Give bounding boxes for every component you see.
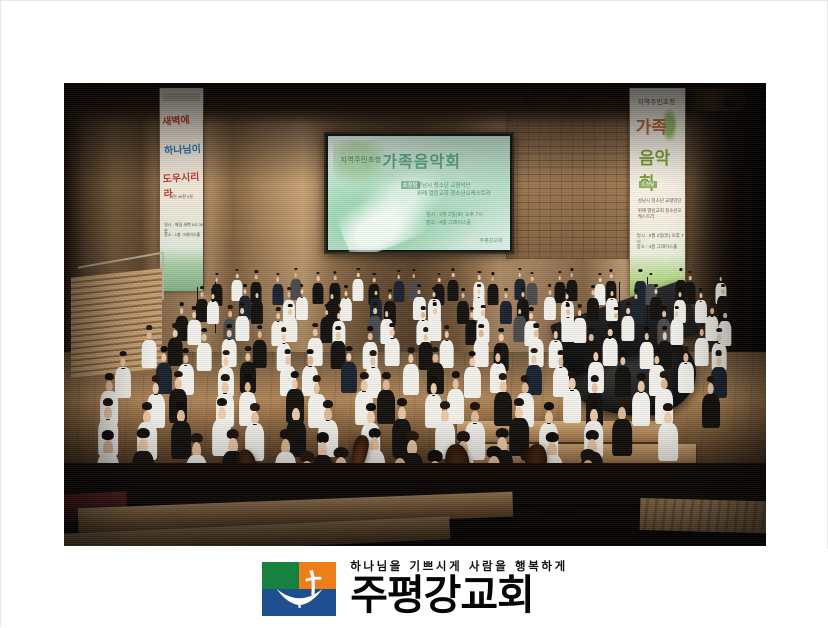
photo-page: 지역주민초청 가족음악회 초청팀 성남시 청소년 교향악단 위례 열린교회 청소… <box>1 1 827 626</box>
person-head <box>639 274 642 278</box>
person-hair <box>373 302 378 306</box>
person-hair <box>423 327 429 331</box>
concert-group-photo: 지역주민초청 가족음악회 초청팀 성남시 청소년 교향악단 위례 열린교회 청소… <box>64 83 766 546</box>
person-head <box>621 357 626 366</box>
person-torso <box>563 389 581 423</box>
person-hair <box>679 268 682 270</box>
person-head <box>558 357 563 366</box>
person-hair <box>637 373 645 380</box>
person-hair <box>715 350 722 355</box>
person-torso <box>236 316 249 341</box>
person-hair <box>620 350 627 355</box>
person-hair <box>478 271 481 273</box>
person-head <box>336 332 341 339</box>
person <box>464 354 480 398</box>
person-head <box>522 292 525 297</box>
person-hair <box>565 289 569 292</box>
person-hair <box>370 350 377 355</box>
person-hair <box>469 307 474 311</box>
person-hair <box>591 285 595 288</box>
person-head <box>223 357 228 366</box>
person <box>312 274 323 304</box>
person-hair <box>344 285 348 288</box>
person-torso <box>612 419 632 456</box>
person <box>678 349 694 393</box>
person-head <box>723 313 727 319</box>
person-hair <box>360 372 368 379</box>
person-torso <box>621 316 634 341</box>
person-hair <box>215 273 218 275</box>
person-hair <box>284 349 291 354</box>
person-hair <box>682 346 689 351</box>
person-hair <box>432 347 439 352</box>
person-hair <box>222 350 229 355</box>
person-head <box>548 290 551 295</box>
person <box>142 328 157 368</box>
person-head <box>635 294 638 299</box>
person-hair <box>368 326 374 330</box>
person-head <box>707 383 714 394</box>
person-hair <box>553 325 559 329</box>
person-hair <box>179 302 184 306</box>
person-hair <box>531 348 538 353</box>
person <box>385 326 400 366</box>
person <box>615 353 631 397</box>
person-hair <box>518 303 523 307</box>
person-head <box>710 308 714 314</box>
church-name: 주평강교회 <box>350 575 534 616</box>
person-head <box>566 294 569 299</box>
person <box>544 287 556 320</box>
person-head <box>334 276 337 280</box>
person-hair <box>610 286 614 289</box>
person-head <box>481 310 485 316</box>
person-hair <box>217 398 227 406</box>
person-head <box>325 310 329 316</box>
person-hair <box>461 288 465 291</box>
person-hair <box>421 306 426 310</box>
person-head <box>491 277 494 281</box>
person-head <box>192 312 196 318</box>
person-hair <box>429 376 437 383</box>
person-hair <box>417 284 421 287</box>
person-head <box>397 275 400 279</box>
person-head <box>383 380 390 391</box>
person-bowtie <box>432 395 436 396</box>
person-head <box>655 289 658 294</box>
person-head <box>578 310 582 316</box>
person-head <box>183 355 188 364</box>
person-hair <box>617 399 627 407</box>
person <box>621 305 634 341</box>
person-head <box>347 353 352 362</box>
person-hair <box>255 270 258 272</box>
person-head <box>654 356 659 365</box>
person-head <box>589 334 594 341</box>
person-hair <box>599 273 602 275</box>
photo-canvas: 지역주민초청 가족음악회 초청팀 성남시 청소년 교향악단 위례 열린교회 청소… <box>64 83 766 546</box>
person <box>670 309 683 345</box>
person-hair <box>663 403 673 411</box>
person-head <box>390 329 395 336</box>
person-hair <box>470 402 480 410</box>
person-torso <box>487 284 498 305</box>
person-bowtie <box>362 391 366 392</box>
church-logo-bar: 하나님을 기쁘시게 사람을 행복하게 주평강교회 <box>1 549 828 628</box>
person-hair <box>452 268 455 270</box>
person-hair <box>590 375 598 382</box>
person-head <box>608 329 613 336</box>
person-hair <box>243 284 247 287</box>
person-head <box>570 273 573 277</box>
person-hair <box>444 325 450 329</box>
person-hair <box>707 376 715 383</box>
person-head <box>433 308 437 314</box>
person-hair <box>250 403 260 411</box>
person-head <box>147 332 152 339</box>
person-hair <box>390 323 396 327</box>
person <box>587 288 599 321</box>
person <box>612 403 632 456</box>
person-hair <box>105 373 113 380</box>
person-torso <box>678 362 694 393</box>
person-head <box>679 273 682 277</box>
person-hair <box>202 328 208 332</box>
person-hair <box>174 371 182 378</box>
person-head <box>495 353 500 362</box>
person-hair <box>589 327 595 331</box>
person-head <box>161 353 166 362</box>
person-head <box>689 276 692 280</box>
person-head <box>255 275 258 279</box>
person <box>633 377 651 426</box>
person-head <box>644 333 649 340</box>
person-hair <box>495 346 502 351</box>
person-hair <box>558 271 561 273</box>
person-head <box>285 356 290 365</box>
person-hair <box>240 303 245 307</box>
person-torso <box>295 297 307 320</box>
person <box>403 351 419 395</box>
person-hair <box>518 268 521 270</box>
person-head <box>314 383 321 394</box>
person-head <box>675 311 679 317</box>
person-hair <box>103 398 113 406</box>
person-hair <box>451 371 459 378</box>
person-torso <box>385 338 400 366</box>
person-hair <box>504 288 508 291</box>
person-head <box>256 293 259 298</box>
person-hair <box>570 268 573 270</box>
person-hair <box>142 402 152 410</box>
person <box>197 331 212 371</box>
person-head <box>614 313 618 319</box>
person-hair <box>288 304 293 308</box>
person-hair <box>172 323 178 327</box>
person-head <box>373 308 377 314</box>
person-head <box>591 290 594 295</box>
person-hair <box>276 307 281 311</box>
person <box>658 407 678 460</box>
person-hair <box>654 284 658 287</box>
person-hair <box>634 289 638 292</box>
person-hair <box>200 286 204 289</box>
person-hair <box>699 323 705 327</box>
church-logo-text: 하나님을 기쁘시게 사람을 행복하게 주평강교회 <box>350 561 568 617</box>
person-hair <box>382 372 390 379</box>
person-head <box>626 308 630 314</box>
person-hair <box>662 326 668 330</box>
person-hair <box>245 346 252 351</box>
person-head <box>287 292 290 297</box>
person-head <box>245 353 250 362</box>
person-torso <box>615 366 631 397</box>
person-hair <box>397 270 400 272</box>
person-hair <box>566 303 571 307</box>
person-head <box>610 291 613 296</box>
person-torso <box>464 367 480 398</box>
person-head <box>281 334 286 341</box>
person-head <box>452 379 459 390</box>
person-hair <box>432 287 436 290</box>
person-head <box>649 278 652 282</box>
person-head <box>662 332 667 339</box>
person-head <box>106 381 113 392</box>
person-bowtie <box>326 420 330 421</box>
person-torso <box>587 298 599 321</box>
person-head <box>277 313 281 319</box>
person-hair <box>243 374 251 381</box>
person-head <box>566 309 570 315</box>
person-hair <box>227 324 233 328</box>
person-bowtie <box>570 390 574 391</box>
cross-icon <box>304 569 323 596</box>
person-hair <box>281 327 287 331</box>
person-head <box>478 275 481 279</box>
person-head <box>559 276 562 280</box>
person-head <box>638 381 645 392</box>
person-head <box>593 352 598 361</box>
person-hair <box>335 326 341 330</box>
person-torso <box>694 338 709 366</box>
person-hair <box>491 272 494 274</box>
person-head <box>152 383 159 394</box>
person-head <box>173 330 178 337</box>
person <box>295 287 307 320</box>
person-head <box>344 291 347 296</box>
person-head <box>313 329 318 336</box>
person-head <box>368 333 373 340</box>
person-head <box>444 331 449 338</box>
person-hair <box>366 403 376 411</box>
person-torso <box>702 394 720 428</box>
person-head <box>553 331 558 338</box>
person-head <box>662 311 666 317</box>
person <box>272 275 283 305</box>
person-hair <box>120 351 127 356</box>
person-head <box>408 354 413 363</box>
person-head <box>200 292 203 297</box>
person-bowtie <box>546 423 550 424</box>
person-hair <box>312 323 318 327</box>
person-head <box>722 289 725 294</box>
person-hair <box>544 402 554 410</box>
person-hair <box>481 305 486 309</box>
person-hair <box>307 349 314 354</box>
person-hair <box>152 375 160 382</box>
person-head <box>308 356 313 365</box>
person-hair <box>699 288 703 291</box>
person-hair <box>437 273 440 275</box>
person-head <box>452 273 455 277</box>
person-head <box>529 313 533 319</box>
person-head <box>413 274 416 278</box>
person-hair <box>161 346 168 351</box>
person-head <box>518 273 521 277</box>
person-head <box>599 278 602 282</box>
person-torso <box>197 343 212 371</box>
person-head <box>505 293 508 298</box>
person-hair <box>498 328 504 332</box>
person-hair <box>548 284 552 287</box>
person-hair <box>514 398 524 406</box>
person-hair <box>276 273 279 275</box>
person-torso <box>670 319 683 344</box>
person-torso <box>544 297 556 320</box>
person-head <box>374 291 377 296</box>
person-hair <box>228 305 233 309</box>
church-logo-mark-icon <box>262 562 336 616</box>
person-hair <box>557 350 564 355</box>
person-head <box>422 312 426 318</box>
person-hair <box>192 306 197 310</box>
person-head <box>569 378 576 389</box>
person-head <box>661 379 668 390</box>
person-hair <box>568 371 576 378</box>
person-hair <box>478 324 484 328</box>
person-hair <box>649 273 652 275</box>
person-hair <box>477 284 481 287</box>
person-hair <box>529 307 534 311</box>
person-head <box>678 292 681 297</box>
person-hair <box>721 284 725 287</box>
person-hair <box>644 326 650 330</box>
person-head <box>720 277 723 281</box>
wooden-pew <box>639 498 766 534</box>
person-head <box>470 312 474 318</box>
person-hair <box>533 323 539 327</box>
person-hair <box>384 305 389 309</box>
person-head <box>477 289 480 294</box>
person-torso <box>251 300 263 323</box>
person-head <box>258 331 263 338</box>
person-hair <box>290 371 298 378</box>
person-head <box>276 277 279 281</box>
person-head <box>699 293 702 298</box>
person-hair <box>592 345 599 350</box>
person-head <box>357 273 360 277</box>
person-hair <box>433 302 438 306</box>
person-bowtie <box>106 419 110 420</box>
person-hair <box>373 273 376 275</box>
person-hair <box>257 325 263 329</box>
person-head <box>518 309 522 315</box>
person-head <box>370 357 375 366</box>
person-hair <box>719 272 722 274</box>
person-hair <box>325 304 330 308</box>
person-hair <box>723 307 728 311</box>
person-head <box>716 357 721 366</box>
person-head <box>610 274 613 278</box>
person <box>563 374 581 423</box>
person-head <box>500 381 507 392</box>
person-hair <box>716 328 722 332</box>
person-hair <box>323 400 333 408</box>
person-torso <box>312 283 323 304</box>
person-head <box>479 330 484 337</box>
person-hair <box>316 272 319 274</box>
person-head <box>291 379 298 390</box>
person-torso <box>353 279 364 300</box>
person-hair <box>440 401 450 409</box>
person-hair <box>330 289 334 292</box>
person-torso <box>142 340 157 368</box>
person-head <box>418 290 421 295</box>
person-head <box>461 293 464 298</box>
person-head <box>389 294 392 299</box>
person-hair <box>577 304 582 308</box>
person-head <box>212 294 215 299</box>
person-bowtie <box>154 394 158 395</box>
person-bowtie <box>640 392 644 393</box>
person-hair <box>639 269 642 271</box>
person-head <box>717 334 722 341</box>
person-bowtie <box>253 424 257 425</box>
person-hair <box>521 375 529 382</box>
person-torso <box>207 301 219 324</box>
person-hair <box>346 346 353 351</box>
person <box>487 275 498 305</box>
person <box>251 290 263 323</box>
person-hair <box>674 306 679 310</box>
person-torso <box>500 301 512 324</box>
person-hair <box>182 348 189 353</box>
person-head <box>683 353 688 362</box>
person-head <box>244 382 251 393</box>
person-head <box>222 382 229 393</box>
person-head <box>361 380 368 391</box>
person-head <box>385 311 389 317</box>
person <box>236 305 249 341</box>
person-head <box>438 278 441 282</box>
person-hair <box>176 401 186 409</box>
person-head <box>300 289 303 294</box>
person-hair <box>614 307 619 311</box>
person-hair <box>499 373 507 380</box>
person-head <box>591 383 598 394</box>
person-hair <box>397 398 407 406</box>
person-head <box>534 330 539 337</box>
person-head <box>240 308 244 314</box>
person-head <box>228 311 232 317</box>
person-head <box>430 383 437 394</box>
person-head <box>337 313 341 319</box>
person-head <box>470 358 475 367</box>
person-hair <box>530 272 533 274</box>
person-head <box>216 278 219 282</box>
person-head <box>175 378 182 389</box>
person-hair <box>412 269 415 271</box>
